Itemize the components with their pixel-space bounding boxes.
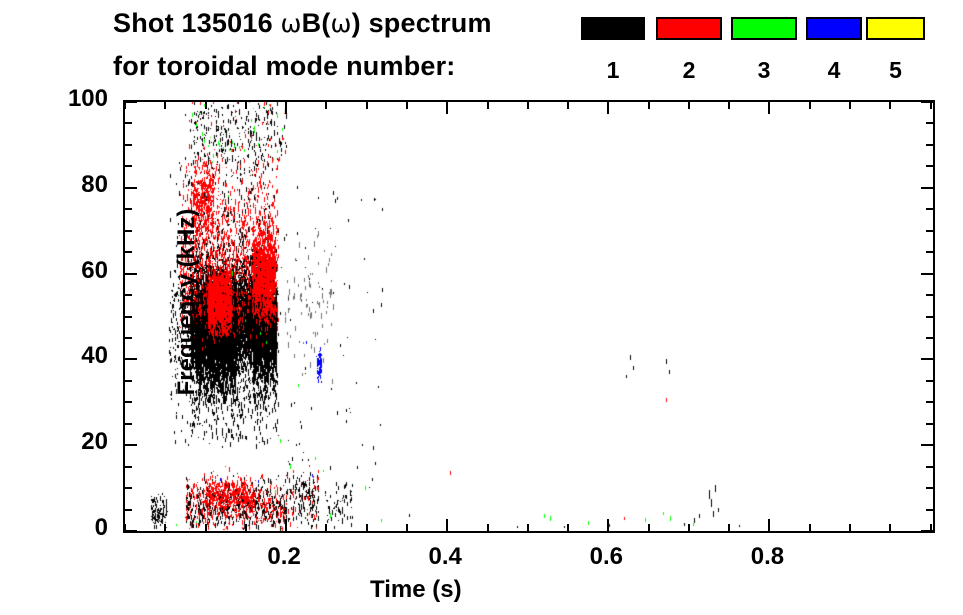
x-tick-top-0.3 bbox=[366, 102, 368, 109]
x-tick-top-0.55 bbox=[567, 102, 569, 109]
x-tick-top-0.65 bbox=[648, 102, 650, 109]
x-tick-top-0.75 bbox=[728, 102, 730, 109]
x-tick-label-0.2: 0.2 bbox=[244, 543, 324, 571]
x-tick-0.45 bbox=[487, 524, 489, 531]
y-tick-85 bbox=[125, 165, 132, 167]
x-tick-top-0.1 bbox=[205, 102, 207, 109]
y-tick-5 bbox=[125, 509, 132, 511]
legend-label-mode-4: 4 bbox=[814, 57, 854, 84]
y-tick-right-65 bbox=[926, 251, 933, 253]
omega-symbol-2: ω bbox=[331, 9, 352, 38]
x-tick-top-0.25 bbox=[325, 102, 327, 109]
x-axis-title: Time (s) bbox=[370, 576, 462, 604]
y-tick-100 bbox=[125, 101, 137, 103]
y-tick-right-15 bbox=[926, 466, 933, 468]
y-tick-60 bbox=[125, 273, 137, 275]
y-tick-50 bbox=[125, 316, 132, 318]
y-tick-20 bbox=[125, 444, 137, 446]
legend-label-mode-1: 1 bbox=[593, 57, 633, 84]
x-tick-0.8 bbox=[768, 519, 770, 531]
y-tick-55 bbox=[125, 294, 132, 296]
y-tick-label-20: 20 bbox=[38, 428, 108, 456]
y-tick-25 bbox=[125, 423, 132, 425]
x-tick-top-0.15 bbox=[245, 102, 247, 109]
x-tick-top-0 bbox=[124, 102, 126, 109]
chart-title-text: Shot 135016 bbox=[113, 8, 281, 38]
y-tick-40 bbox=[125, 358, 137, 360]
y-tick-80 bbox=[125, 187, 137, 189]
legend-swatch-mode-5 bbox=[866, 17, 925, 40]
y-tick-right-40 bbox=[921, 358, 933, 360]
y-tick-label-60: 60 bbox=[38, 257, 108, 285]
x-tick-top-0.9 bbox=[849, 102, 851, 109]
y-tick-65 bbox=[125, 251, 132, 253]
y-tick-right-70 bbox=[926, 230, 933, 232]
y-tick-right-55 bbox=[926, 294, 933, 296]
x-tick-0.55 bbox=[567, 524, 569, 531]
x-tick-0.7 bbox=[688, 524, 690, 531]
legend-label-mode-5: 5 bbox=[876, 57, 916, 84]
y-tick-right-25 bbox=[926, 423, 933, 425]
x-tick-0.2 bbox=[285, 519, 287, 531]
y-tick-right-75 bbox=[926, 208, 933, 210]
spectrogram-canvas bbox=[125, 102, 933, 531]
y-tick-right-10 bbox=[926, 487, 933, 489]
x-tick-top-0.7 bbox=[688, 102, 690, 109]
x-tick-0.85 bbox=[809, 524, 811, 531]
x-tick-0.95 bbox=[889, 524, 891, 531]
x-tick-top-0.85 bbox=[809, 102, 811, 109]
y-tick-right-80 bbox=[921, 187, 933, 189]
y-tick-30 bbox=[125, 401, 132, 403]
x-tick-0 bbox=[124, 524, 126, 531]
x-tick-0.35 bbox=[406, 524, 408, 531]
x-tick-0.3 bbox=[366, 524, 368, 531]
y-tick-label-100: 100 bbox=[38, 85, 108, 113]
y-tick-label-0: 0 bbox=[38, 514, 108, 542]
x-tick-top-0.4 bbox=[446, 102, 448, 114]
x-tick-label-0.4: 0.4 bbox=[405, 543, 485, 571]
x-tick-0.05 bbox=[164, 524, 166, 531]
y-tick-0 bbox=[125, 530, 137, 532]
x-tick-0.65 bbox=[648, 524, 650, 531]
y-tick-right-60 bbox=[921, 273, 933, 275]
x-tick-0.75 bbox=[728, 524, 730, 531]
x-tick-1 bbox=[930, 524, 932, 531]
y-axis-title: Frequency (kHz) bbox=[173, 172, 201, 432]
x-tick-top-0.45 bbox=[487, 102, 489, 109]
x-tick-top-0.95 bbox=[889, 102, 891, 109]
y-tick-right-20 bbox=[921, 444, 933, 446]
plot-area: Frequency (kHz) bbox=[123, 100, 935, 533]
x-tick-label-0.8: 0.8 bbox=[727, 543, 807, 571]
x-tick-top-0.05 bbox=[164, 102, 166, 109]
x-tick-0.25 bbox=[325, 524, 327, 531]
y-tick-70 bbox=[125, 230, 132, 232]
legend-swatch-mode-1 bbox=[581, 17, 645, 40]
y-tick-label-40: 40 bbox=[38, 342, 108, 370]
y-tick-10 bbox=[125, 487, 132, 489]
x-tick-top-1 bbox=[930, 102, 932, 109]
y-tick-35 bbox=[125, 380, 132, 382]
legend-swatch-mode-4 bbox=[806, 17, 862, 40]
y-tick-15 bbox=[125, 466, 132, 468]
y-tick-right-95 bbox=[926, 122, 933, 124]
x-tick-label-0.6: 0.6 bbox=[566, 543, 646, 571]
legend-label-mode-2: 2 bbox=[669, 57, 709, 84]
chart-title-line-2: for toroidal mode number: bbox=[113, 51, 456, 82]
omega-symbol-1: ω bbox=[281, 9, 302, 38]
y-tick-95 bbox=[125, 122, 132, 124]
x-tick-0.15 bbox=[245, 524, 247, 531]
y-tick-right-90 bbox=[926, 144, 933, 146]
x-tick-0.5 bbox=[527, 524, 529, 531]
legend-swatch-mode-3 bbox=[731, 17, 797, 40]
x-tick-0.6 bbox=[607, 519, 609, 531]
x-tick-0.4 bbox=[446, 519, 448, 531]
y-tick-right-35 bbox=[926, 380, 933, 382]
legend-label-mode-3: 3 bbox=[744, 57, 784, 84]
x-tick-top-0.35 bbox=[406, 102, 408, 109]
y-tick-right-5 bbox=[926, 509, 933, 511]
spectrogram-figure: Shot 135016 ωB(ω) spectrum for toroidal … bbox=[0, 0, 963, 615]
y-tick-45 bbox=[125, 337, 132, 339]
y-tick-right-30 bbox=[926, 401, 933, 403]
chart-title-suffix: ) spectrum bbox=[352, 8, 492, 38]
chart-title-mid: B( bbox=[302, 8, 331, 38]
x-tick-0.1 bbox=[205, 524, 207, 531]
y-tick-90 bbox=[125, 144, 132, 146]
y-tick-label-80: 80 bbox=[38, 171, 108, 199]
y-tick-75 bbox=[125, 208, 132, 210]
legend-swatch-mode-2 bbox=[656, 17, 722, 40]
x-tick-top-0.8 bbox=[768, 102, 770, 114]
y-tick-right-45 bbox=[926, 337, 933, 339]
x-tick-0.9 bbox=[849, 524, 851, 531]
chart-title-line-1: Shot 135016 ωB(ω) spectrum bbox=[113, 8, 492, 39]
x-tick-top-0.6 bbox=[607, 102, 609, 114]
x-tick-top-0.5 bbox=[527, 102, 529, 109]
y-tick-right-85 bbox=[926, 165, 933, 167]
y-tick-right-50 bbox=[926, 316, 933, 318]
x-tick-top-0.2 bbox=[285, 102, 287, 114]
